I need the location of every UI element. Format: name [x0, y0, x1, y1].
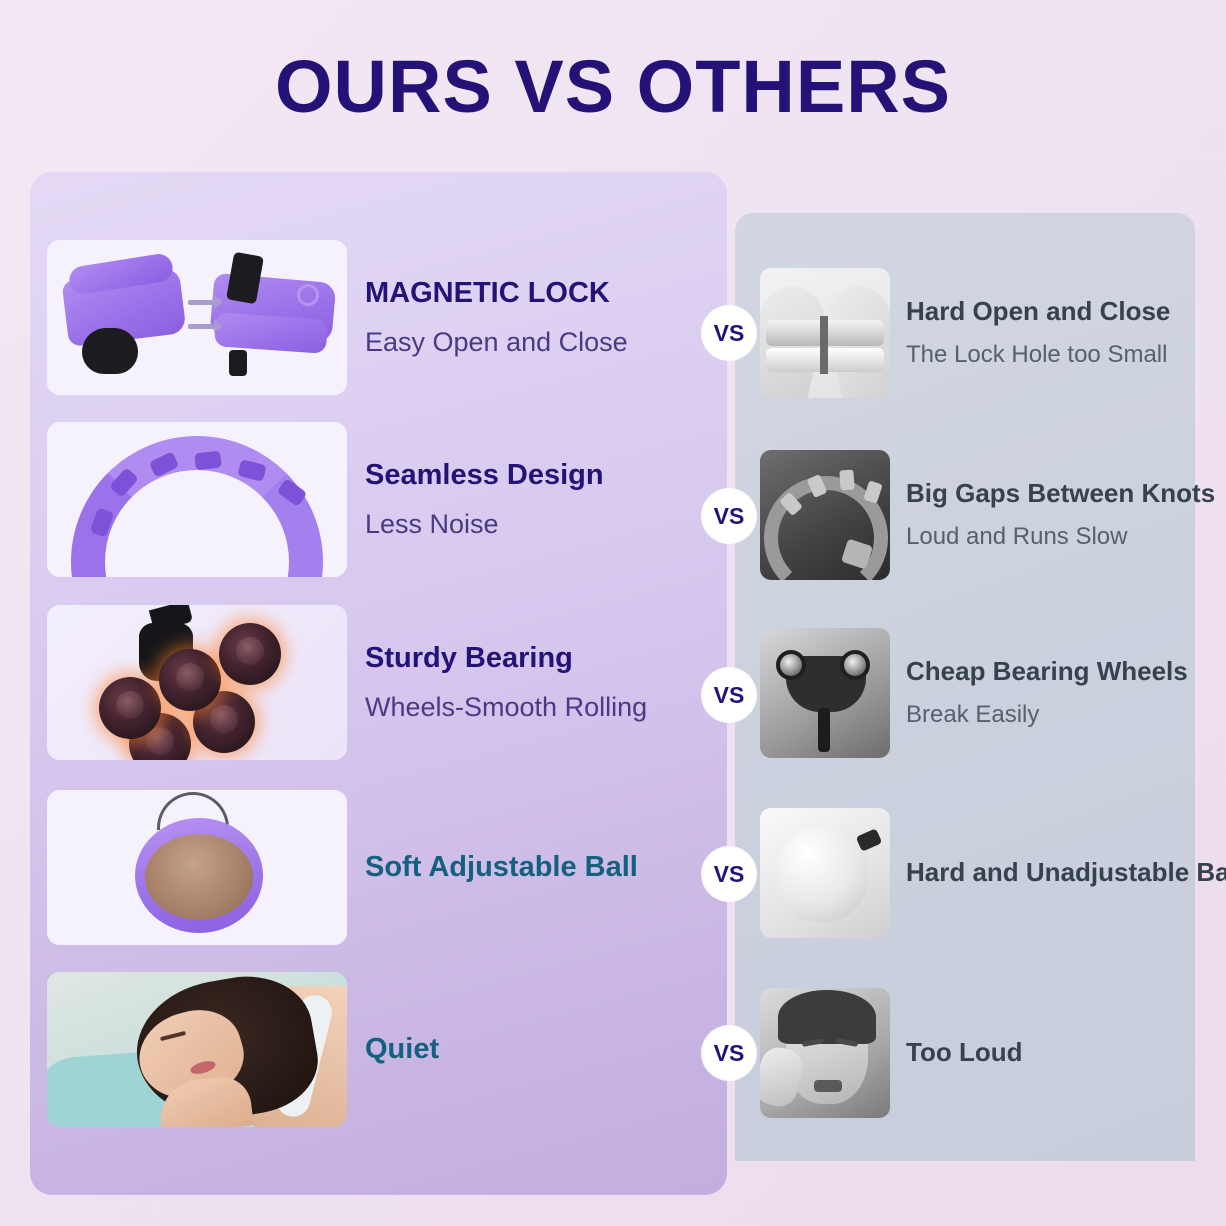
others-feature-title: Hard and Unadjustable Ball [906, 858, 1226, 888]
hard-lock-photo [760, 268, 890, 398]
ours-feature-title: Quiet [365, 1033, 439, 1066]
others-feature-row: Big Gaps Between Knots Loud and Runs Slo… [760, 450, 1190, 580]
bearing-wheels-photo [47, 605, 347, 760]
others-feature-title: Cheap Bearing Wheels [906, 657, 1188, 687]
loud-woman-photo [760, 988, 890, 1118]
others-feature-row: Too Loud [760, 988, 1190, 1118]
others-feature-subtitle: Loud and Runs Slow [906, 523, 1215, 551]
others-feature-title: Big Gaps Between Knots [906, 479, 1215, 509]
ours-feature-title: Sturdy Bearing [365, 642, 647, 675]
ours-feature-row: Seamless Design Less Noise [47, 422, 687, 577]
others-feature-row: Hard and Unadjustable Ball [760, 808, 1190, 938]
ours-feature-title: Soft Adjustable Ball [365, 851, 638, 884]
gappy-knots-photo [760, 450, 890, 580]
others-feature-subtitle: The Lock Hole too Small [906, 341, 1170, 369]
vs-badge: VS [702, 306, 756, 360]
others-feature-row: Hard Open and Close The Lock Hole too Sm… [760, 268, 1190, 398]
others-feature-row: Cheap Bearing Wheels Break Easily [760, 628, 1190, 758]
ours-feature-subtitle: Less Noise [365, 509, 604, 540]
cheap-wheels-photo [760, 628, 890, 758]
ours-feature-row: MAGNETIC LOCK Easy Open and Close [47, 240, 687, 395]
hard-ball-photo [760, 808, 890, 938]
others-feature-title: Too Loud [906, 1038, 1022, 1068]
others-feature-subtitle: Break Easily [906, 701, 1188, 729]
others-feature-title: Hard Open and Close [906, 297, 1170, 327]
vs-badge: VS [702, 668, 756, 722]
soft-adjustable-ball-photo [47, 790, 347, 945]
vs-badge: VS [702, 489, 756, 543]
ours-feature-row: Soft Adjustable Ball [47, 790, 687, 945]
sleeping-woman-photo [47, 972, 347, 1127]
magnetic-lock-photo [47, 240, 347, 395]
vs-badge: VS [702, 847, 756, 901]
seamless-hoop-photo [47, 422, 347, 577]
page-title: OURS VS OTHERS [0, 44, 1226, 129]
ours-feature-title: Seamless Design [365, 459, 604, 492]
vs-badge: VS [702, 1026, 756, 1080]
ours-feature-subtitle: Easy Open and Close [365, 327, 628, 358]
ours-feature-row: Sturdy Bearing Wheels-Smooth Rolling [47, 605, 687, 760]
ours-feature-row: Quiet [47, 972, 687, 1127]
ours-feature-subtitle: Wheels-Smooth Rolling [365, 692, 647, 723]
ours-feature-title: MAGNETIC LOCK [365, 277, 628, 310]
